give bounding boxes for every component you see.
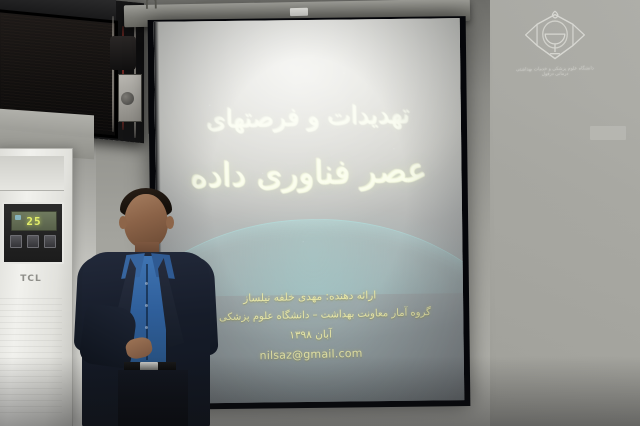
screen-mount-hook [146,0,157,9]
ac-mode-indicator-icon [15,215,21,220]
ac-top-vent [0,156,64,191]
shirt-button [145,326,148,329]
photo-scene: تهدیدات و فرصتهای عصر فناوری داده ارائه … [0,0,640,426]
ac-lcd-display: 25 [11,211,57,231]
shirt-button [145,282,148,285]
ac-brand-label: TCL [0,274,66,284]
university-emblem-icon [512,8,598,70]
presenter-ear-left [119,216,127,229]
ac-button-row [10,235,56,248]
slide-title-line-1: تهدیدات و فرصتهای [154,94,461,139]
ac-control-panel[interactable]: 25 [2,202,64,264]
university-logo-caption: دانشگاه علوم پزشکی و خدمات بهداشتی درمان… [512,66,598,77]
ac-temperature-value: 25 [26,215,41,228]
rack-knob [121,92,134,105]
university-logo: دانشگاه علوم پزشکی و خدمات بهداشتی درمان… [512,8,598,90]
projector-mount-bracket [110,36,136,70]
floor-shadow [0,356,640,426]
ac-seam [0,148,72,149]
ac-mode-button[interactable] [10,235,22,248]
presenter-head [124,194,168,248]
slide-title-block: تهدیدات و فرصتهای عصر فناوری داده [155,96,462,199]
presenter-ear-right [166,216,174,229]
ac-up-button[interactable] [27,235,39,248]
shirt-button [145,304,148,307]
ac-down-button[interactable] [44,235,56,248]
cable [112,16,114,132]
housing-label [290,8,308,16]
wall-marking [590,126,626,140]
